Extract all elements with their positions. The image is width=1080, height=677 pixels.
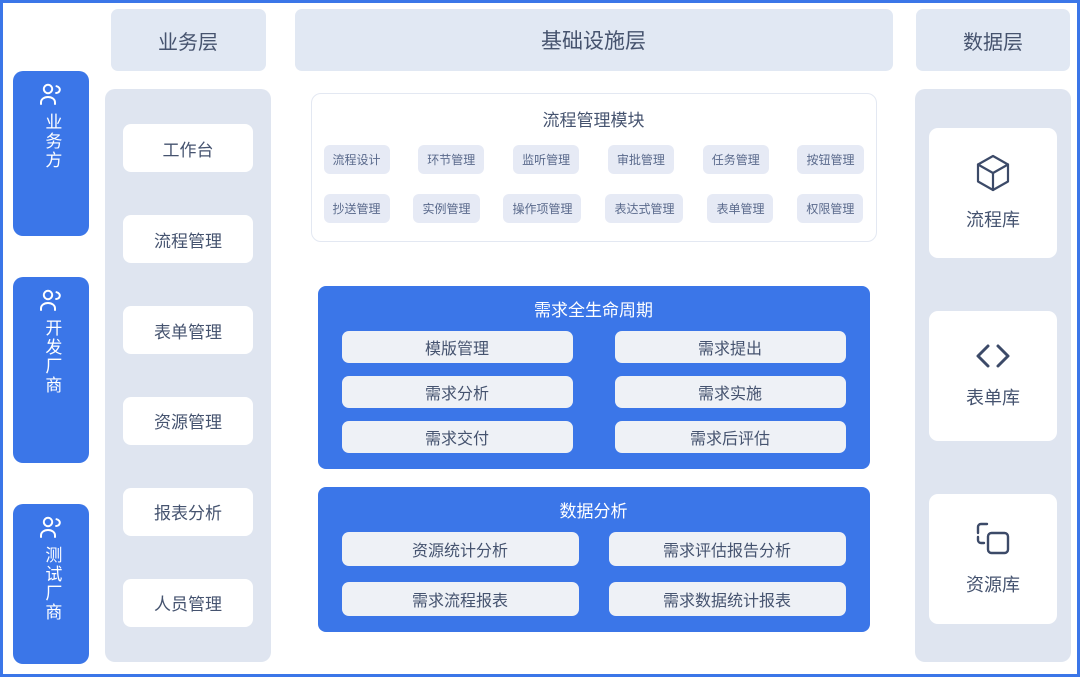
infrastructure-layer-column: 基础设施层 流程管理模块 流程设计 环节管理 监听管理 审批管理 任务管理 按钮…	[278, 3, 909, 674]
process-module-title: 流程管理模块	[324, 106, 864, 131]
data-layer-column: 数据层 流程库 表单库	[909, 3, 1077, 674]
tag-form-management[interactable]: 表单管理	[707, 194, 773, 223]
analysis-btn-resource-statistics[interactable]: 资源统计分析	[342, 532, 579, 566]
lifecycle-btn-template-mgmt[interactable]: 模版管理	[342, 331, 573, 363]
analysis-btn-data-statistics-report[interactable]: 需求数据统计报表	[609, 582, 846, 616]
business-item-form-mgmt[interactable]: 表单管理	[123, 306, 253, 354]
infrastructure-layer-header: 基础设施层	[295, 9, 893, 71]
actor-label: 测试厂商	[41, 546, 62, 622]
data-layer-list: 流程库 表单库 资源库	[915, 89, 1071, 662]
data-card-process-repository[interactable]: 流程库	[929, 128, 1057, 258]
analysis-panel-title: 数据分析	[342, 497, 846, 522]
tag-instance-management[interactable]: 实例管理	[413, 194, 479, 223]
business-layer-list: 工作台 流程管理 表单管理 资源管理 报表分析 人员管理	[105, 89, 271, 662]
data-card-label: 资源库	[966, 571, 1020, 597]
lifecycle-btn-requirement-raise[interactable]: 需求提出	[615, 331, 846, 363]
tag-permission-management[interactable]: 权限管理	[797, 194, 863, 223]
actor-tab-developer[interactable]: 开发厂商	[13, 277, 89, 463]
process-management-module: 流程管理模块 流程设计 环节管理 监听管理 审批管理 任务管理 按钮管理 抄送管…	[311, 93, 877, 242]
users-icon	[38, 289, 64, 313]
cube-icon	[974, 153, 1012, 193]
copy-squares-icon	[974, 520, 1012, 558]
architecture-diagram: 业务方 开发厂商 测试厂商 业务层	[0, 0, 1080, 677]
business-item-process-mgmt[interactable]: 流程管理	[123, 215, 253, 263]
analysis-btn-evaluation-report[interactable]: 需求评估报告分析	[609, 532, 846, 566]
data-layer-header: 数据层	[916, 9, 1070, 71]
process-tag-row-2: 抄送管理 实例管理 操作项管理 表达式管理 表单管理 权限管理	[324, 194, 864, 223]
lifecycle-btn-post-evaluation[interactable]: 需求后评估	[615, 421, 846, 453]
data-analysis-panel: 数据分析 资源统计分析 需求评估报告分析 需求流程报表 需求数据统计报表	[318, 487, 870, 632]
business-layer-column: 业务层 工作台 流程管理 表单管理 资源管理 报表分析 人员管理	[98, 3, 278, 674]
lifecycle-btn-requirement-analysis[interactable]: 需求分析	[342, 376, 573, 408]
analysis-btn-process-report[interactable]: 需求流程报表	[342, 582, 579, 616]
lifecycle-btn-requirement-implement[interactable]: 需求实施	[615, 376, 846, 408]
tag-approval-management[interactable]: 审批管理	[608, 145, 674, 174]
actor-rail: 业务方 开发厂商 测试厂商	[3, 3, 98, 674]
tag-listener-management[interactable]: 监听管理	[513, 145, 579, 174]
actor-label: 业务方	[41, 113, 62, 170]
data-card-label: 流程库	[966, 206, 1020, 232]
data-card-resource-repository[interactable]: 资源库	[929, 494, 1057, 624]
business-layer-header: 业务层	[111, 9, 266, 71]
tag-expression-management[interactable]: 表达式管理	[605, 194, 683, 223]
users-icon	[38, 83, 64, 107]
process-tag-row-1: 流程设计 环节管理 监听管理 审批管理 任务管理 按钮管理	[324, 145, 864, 174]
lifecycle-button-grid: 模版管理 需求提出 需求分析 需求实施 需求交付 需求后评估	[342, 331, 846, 453]
requirement-lifecycle-panel: 需求全生命周期 模版管理 需求提出 需求分析 需求实施 需求交付 需求后评估	[318, 286, 870, 469]
lifecycle-panel-title: 需求全生命周期	[342, 296, 846, 321]
tag-process-design[interactable]: 流程设计	[324, 145, 390, 174]
tag-task-management[interactable]: 任务管理	[703, 145, 769, 174]
tag-operation-management[interactable]: 操作项管理	[503, 194, 581, 223]
actor-tab-tester[interactable]: 测试厂商	[13, 504, 89, 664]
tag-cc-management[interactable]: 抄送管理	[324, 194, 390, 223]
business-item-personnel-mgmt[interactable]: 人员管理	[123, 579, 253, 627]
data-card-form-repository[interactable]: 表单库	[929, 311, 1057, 441]
actor-tab-business[interactable]: 业务方	[13, 71, 89, 236]
lifecycle-btn-requirement-delivery[interactable]: 需求交付	[342, 421, 573, 453]
actor-label: 开发厂商	[41, 319, 62, 395]
business-item-report-analysis[interactable]: 报表分析	[123, 488, 253, 536]
users-icon	[38, 516, 64, 540]
data-card-label: 表单库	[966, 384, 1020, 410]
analysis-button-grid: 资源统计分析 需求评估报告分析 需求流程报表 需求数据统计报表	[342, 532, 846, 616]
tag-node-management[interactable]: 环节管理	[418, 145, 484, 174]
code-brackets-icon	[972, 341, 1014, 371]
business-item-resource-mgmt[interactable]: 资源管理	[123, 397, 253, 445]
tag-button-management[interactable]: 按钮管理	[797, 145, 863, 174]
business-item-workbench[interactable]: 工作台	[123, 124, 253, 172]
